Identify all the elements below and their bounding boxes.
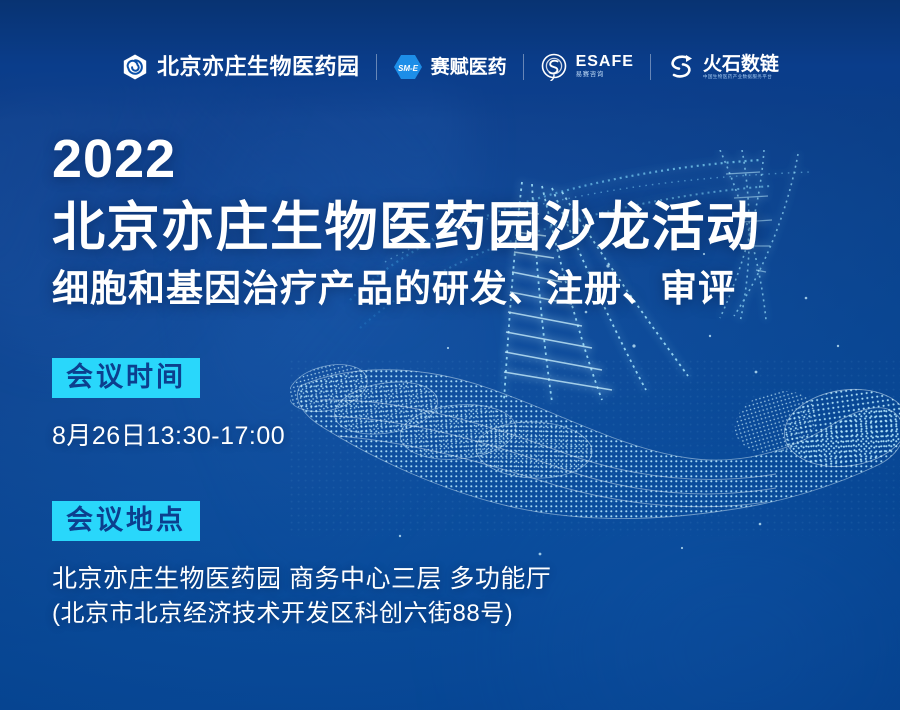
meeting-place-line-2: (北京市北京经济技术开发区科创六街88号) [52,598,852,630]
sponsor-logo-bar: 北京亦庄生物医药园 SM-E 赛赋医药 [0,47,900,87]
logo-label-huoshi: 火石数链 [703,55,779,74]
event-year: 2022 [52,132,852,186]
logo-label-saifu: 赛赋医药 [431,58,507,77]
meeting-time-value: 8月26日13:30-17:00 [52,420,852,453]
logo-esafe: ESAFE 易赛咨询 [524,50,650,84]
esafe-s-icon [540,53,568,81]
hex-spiral-icon [121,53,149,81]
svg-text:SM-E: SM-E [398,64,419,73]
logo-saifu-pharma: SM-E 赛赋医药 [377,50,523,84]
section-place: 会议地点 北京亦庄生物医药园 商务中心三层 多功能厅 (北京市北京经济技术开发区… [52,501,852,630]
event-title: 北京亦庄生物医药园沙龙活动 [52,200,852,256]
logo-sublabel-huoshi: 中国生物医药产业数据服务平台 [703,74,779,80]
huoshi-arrow-icon [667,53,695,81]
sfe-hex-icon: SM-E [393,54,423,80]
event-subtitle: 细胞和基因治疗产品的研发、注册、审评 [52,266,852,312]
logo-sublabel-esafe: 易赛咨询 [576,71,634,79]
meeting-place-line-1: 北京亦庄生物医药园 商务中心三层 多功能厅 [52,563,852,596]
logo-beijing-yizhuang-biomedical-park: 北京亦庄生物医药园 [105,50,376,84]
logo-label-esafe: ESAFE [576,54,634,71]
section-time: 会议时间 8月26日13:30-17:00 [52,358,852,453]
logo-text-huoshi: 火石数链 中国生物医药产业数据服务平台 [703,55,779,80]
logo-text-esafe: ESAFE 易赛咨询 [576,54,634,79]
poster-content: 2022 北京亦庄生物医药园沙龙活动 细胞和基因治疗产品的研发、注册、审评 会议… [52,132,852,630]
logo-huoshi-shulian: 火石数链 中国生物医药产业数据服务平台 [651,50,795,84]
badge-meeting-time: 会议时间 [52,358,200,398]
event-poster: 北京亦庄生物医药园 SM-E 赛赋医药 [0,0,900,710]
logo-label-park: 北京亦庄生物医药园 [157,56,360,78]
badge-meeting-place: 会议地点 [52,501,200,541]
